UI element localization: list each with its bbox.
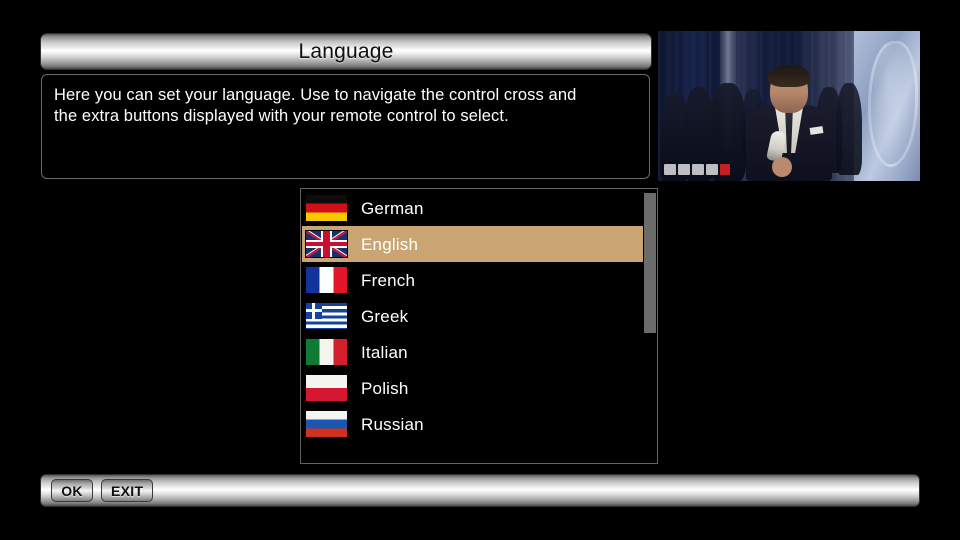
language-list: German English French Greek	[302, 190, 644, 442]
bottom-action-bar: OK EXIT	[40, 474, 920, 507]
list-item[interactable]: Greek	[302, 298, 644, 334]
page-title: Language	[298, 41, 393, 62]
list-item[interactable]: Italian	[302, 334, 644, 370]
language-list-panel: German English French Greek	[300, 188, 658, 464]
list-item[interactable]: English	[302, 226, 644, 262]
list-item-label: Polish	[361, 380, 409, 397]
list-item[interactable]: French	[302, 262, 644, 298]
flag-de-icon	[305, 194, 348, 222]
flag-ru-icon	[305, 410, 348, 438]
list-item-label: German	[361, 200, 424, 217]
flag-gr-icon	[305, 302, 348, 330]
list-item[interactable]: Polish	[302, 370, 644, 406]
list-item-label: Greek	[361, 308, 408, 325]
video-reporter-hand	[772, 157, 792, 177]
list-item-label: Italian	[361, 344, 408, 361]
title-bar: Language	[40, 33, 652, 70]
description-panel: Here you can set your language. Use to n…	[41, 74, 650, 179]
list-item-label: English	[361, 236, 418, 253]
bug-block	[706, 164, 718, 175]
list-item-label: French	[361, 272, 415, 289]
video-crowd-person	[836, 83, 862, 175]
channel-logo-bug	[664, 163, 730, 176]
bug-block	[678, 164, 690, 175]
flag-it-icon	[305, 338, 348, 366]
list-item[interactable]: German	[302, 190, 644, 226]
video-preview[interactable]	[658, 31, 920, 181]
list-item-label: Russian	[361, 416, 424, 433]
list-scrollbar-thumb[interactable]	[644, 193, 656, 333]
list-scrollbar-track[interactable]	[643, 189, 657, 463]
video-reporter-hair	[768, 65, 810, 87]
bug-block	[692, 164, 704, 175]
tv-settings-screen: Language Here you can set your language.…	[0, 0, 960, 540]
description-text: Here you can set your language. Use to n…	[54, 85, 637, 127]
exit-button[interactable]: EXIT	[101, 479, 153, 502]
ok-button[interactable]: OK	[51, 479, 93, 502]
flag-pl-icon	[305, 374, 348, 402]
flag-fr-icon	[305, 266, 348, 294]
bug-block	[664, 164, 676, 175]
bug-block-accent	[720, 164, 730, 175]
flag-uk-icon	[305, 230, 348, 258]
list-item[interactable]: Russian	[302, 406, 644, 442]
